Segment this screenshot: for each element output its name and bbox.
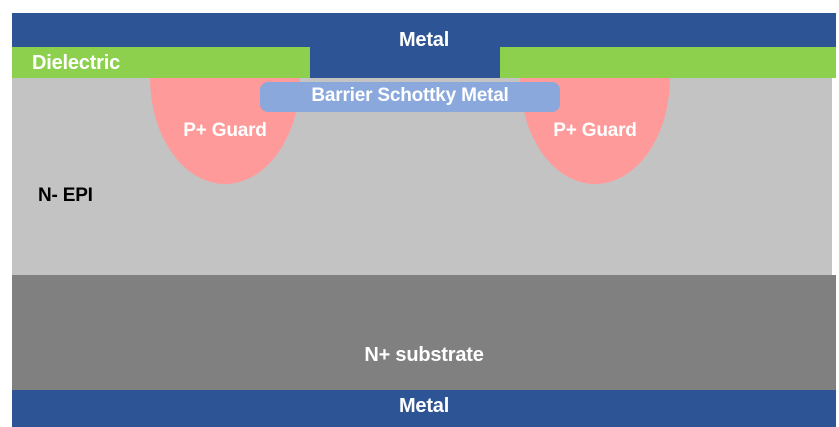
n-plus-substrate-label: N+ substrate <box>12 344 836 367</box>
dielectric-label: Dielectric <box>32 52 120 75</box>
metal-bottom-label: Metal <box>12 395 836 418</box>
p-plus-guard-right-label: P+ Guard <box>520 120 670 142</box>
p-plus-guard-left-label: P+ Guard <box>150 120 300 142</box>
n-plus-substrate-layer <box>12 275 836 390</box>
device-cross-section-diagram: Metal Dielectric P+ Guard P+ Guard Barri… <box>0 0 839 427</box>
metal-top-label: Metal <box>12 29 836 52</box>
barrier-schottky-metal-label: Barrier Schottky Metal <box>260 85 560 107</box>
n-epi-label: N- EPI <box>38 185 93 207</box>
